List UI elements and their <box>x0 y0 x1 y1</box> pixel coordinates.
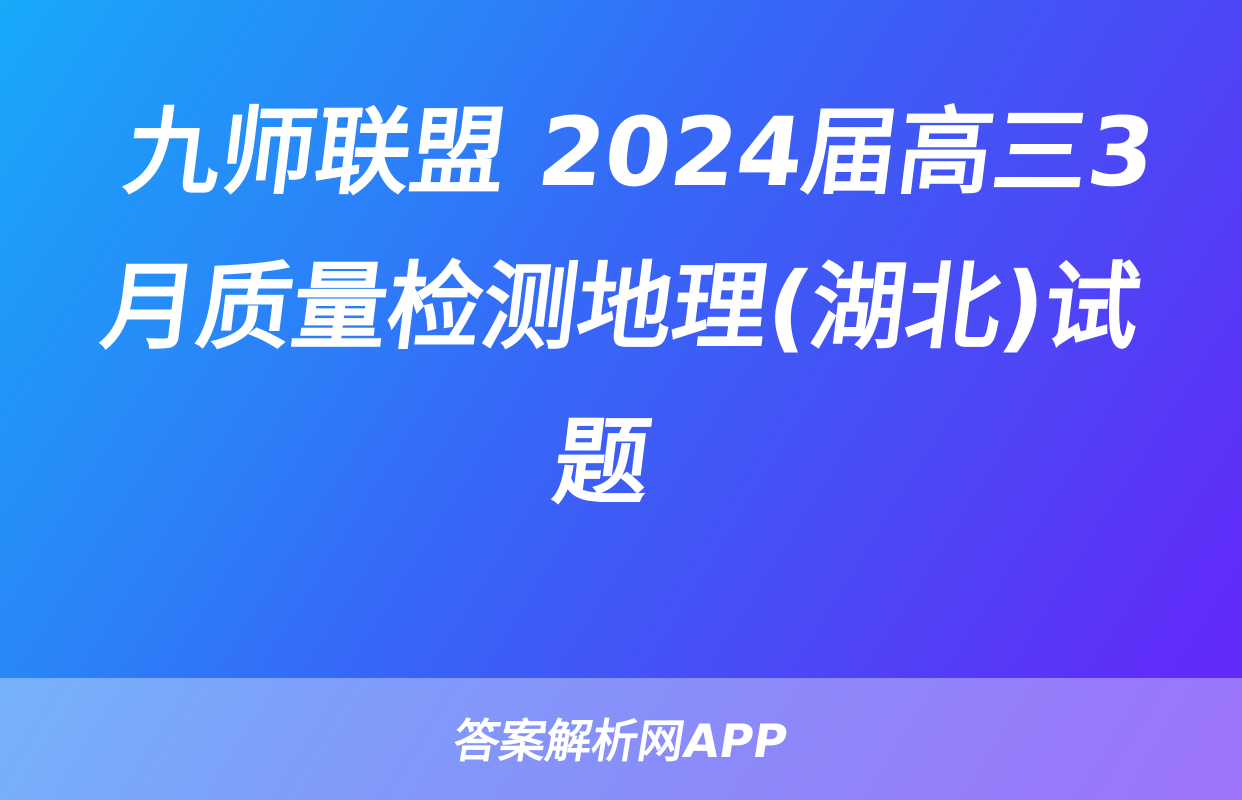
watermark-label: 答案解析网APP <box>451 718 791 764</box>
exam-cover-card: 九师联盟 2024届高三3月质量检测地理(湖北)试题 答案解析网APP <box>0 0 1242 800</box>
title-block: 九师联盟 2024届高三3月质量检测地理(湖北)试题 <box>0 0 1242 678</box>
watermark-band: 答案解析网APP <box>0 678 1242 800</box>
page-title: 九师联盟 2024届高三3月质量检测地理(湖北)试题 <box>59 76 1182 541</box>
